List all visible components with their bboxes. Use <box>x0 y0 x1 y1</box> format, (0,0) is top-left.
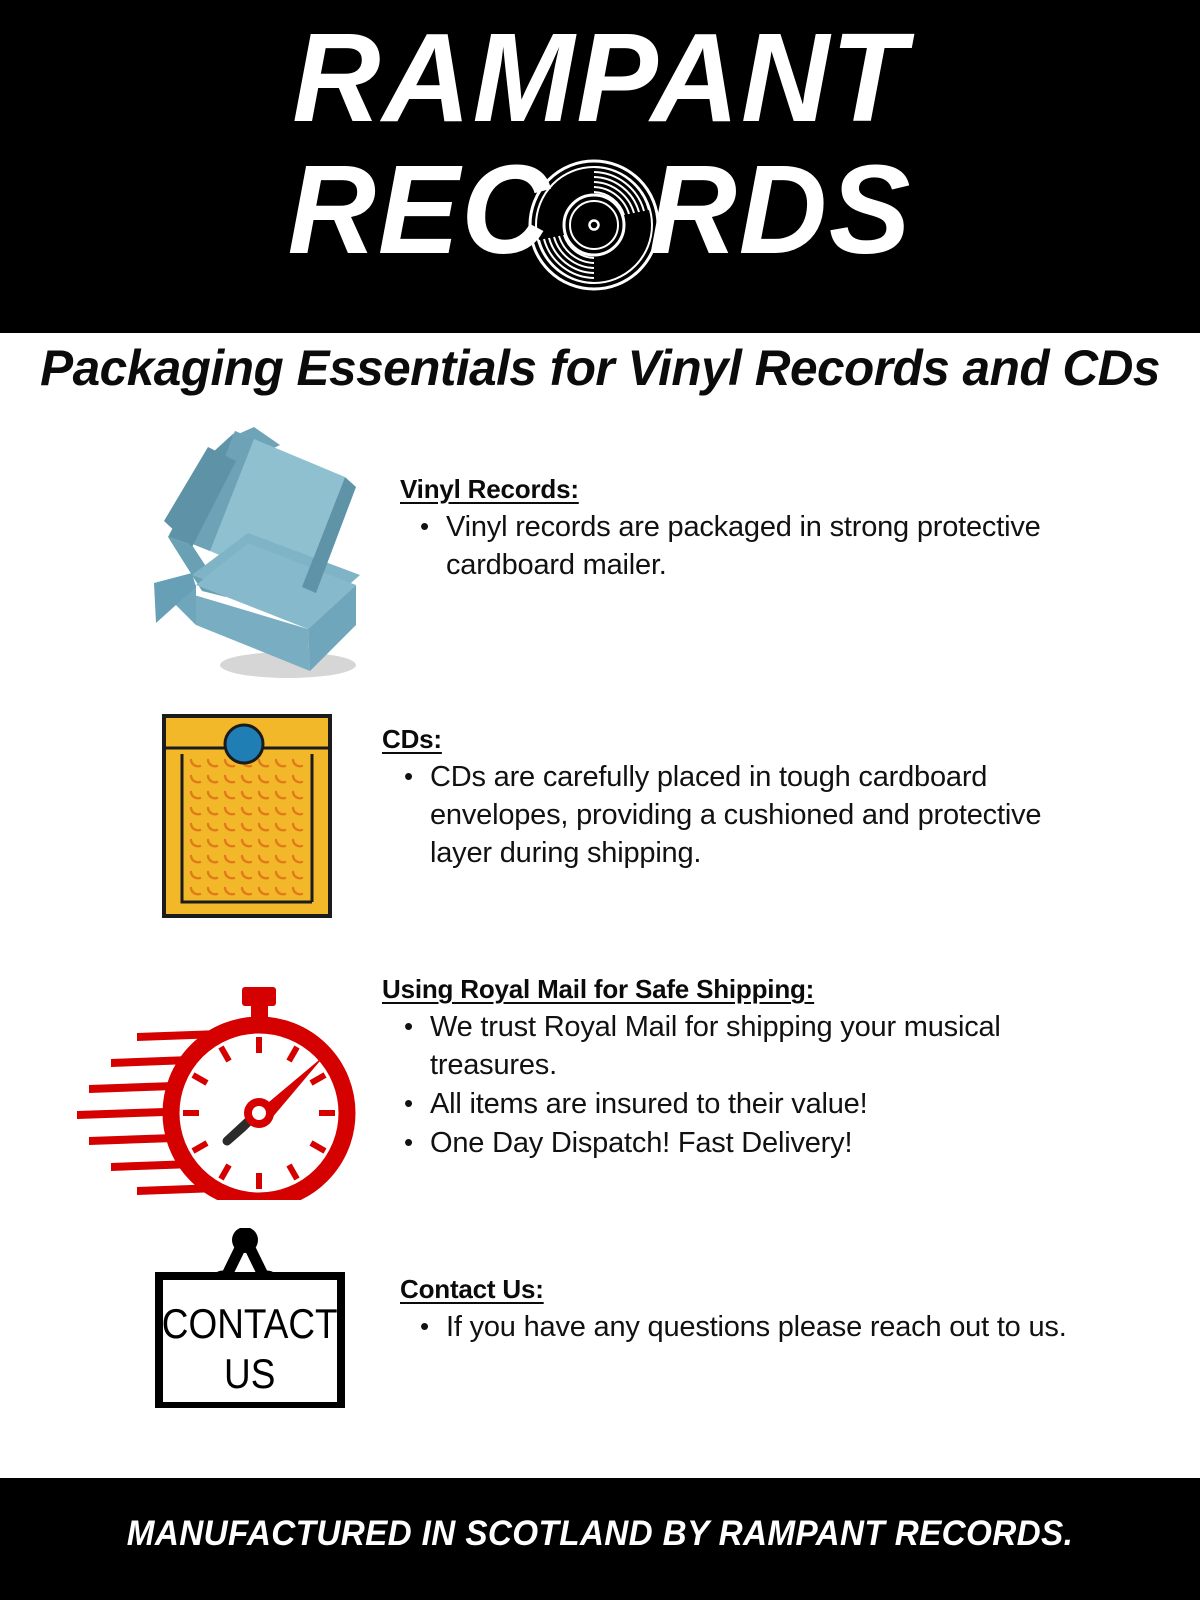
list-item: All items are insured to their value! <box>430 1085 1082 1123</box>
section-heading-royal-mail: Using Royal Mail for Safe Shipping: <box>382 972 1082 1006</box>
brand-title-prefix: REC <box>288 139 552 280</box>
footer-text: MANUFACTURED IN SCOTLAND BY RAMPANT RECO… <box>30 1512 1170 1556</box>
list-item: Vinyl records are packaged in strong pro… <box>446 508 1090 584</box>
footer-band: MANUFACTURED IN SCOTLAND BY RAMPANT RECO… <box>0 1478 1200 1600</box>
page-subtitle: Packaging Essentials for Vinyl Records a… <box>6 336 1194 400</box>
brand-title-suffix: RDS <box>649 139 913 280</box>
bubble-mailer-envelope-icon <box>160 712 335 922</box>
section-heading-contact-us: Contact Us: <box>400 1272 1100 1306</box>
section-bullets-cds: CDs are carefully placed in tough cardbo… <box>382 758 1092 872</box>
list-item: We trust Royal Mail for shipping your mu… <box>430 1008 1082 1084</box>
section-heading-vinyl-records: Vinyl Records: <box>400 472 1090 506</box>
section-bullets-royal-mail: We trust Royal Mail for shipping your mu… <box>382 1008 1082 1162</box>
list-item: If you have any questions please reach o… <box>446 1308 1100 1346</box>
section-contact-us-text: Contact Us: If you have any questions pl… <box>400 1272 1100 1347</box>
section-cds-text: CDs: CDs are carefully placed in tough c… <box>382 722 1092 873</box>
contact-sign-line-1: CONTACT <box>162 1301 338 1348</box>
list-item: CDs are carefully placed in tough cardbo… <box>430 758 1092 872</box>
section-bullets-contact-us: If you have any questions please reach o… <box>400 1308 1100 1346</box>
vinyl-record-icon <box>527 158 661 292</box>
section-royal-mail-text: Using Royal Mail for Safe Shipping: We t… <box>382 972 1082 1163</box>
section-bullets-vinyl-records: Vinyl records are packaged in strong pro… <box>400 508 1090 584</box>
list-item: One Day Dispatch! Fast Delivery! <box>430 1124 1082 1162</box>
section-vinyl-records-text: Vinyl Records: Vinyl records are package… <box>400 472 1090 585</box>
cardboard-mailer-box-icon <box>130 425 390 685</box>
contact-us-sign-icon: CONTACT US <box>145 1228 355 1408</box>
contact-sign-line-2: US <box>224 1351 275 1398</box>
section-heading-cds: CDs: <box>382 722 1092 756</box>
fast-stopwatch-icon <box>75 955 365 1200</box>
brand-title-line-1: RAMPANT <box>18 8 1182 148</box>
header-band: RAMPANT RECORDS <box>0 0 1200 333</box>
